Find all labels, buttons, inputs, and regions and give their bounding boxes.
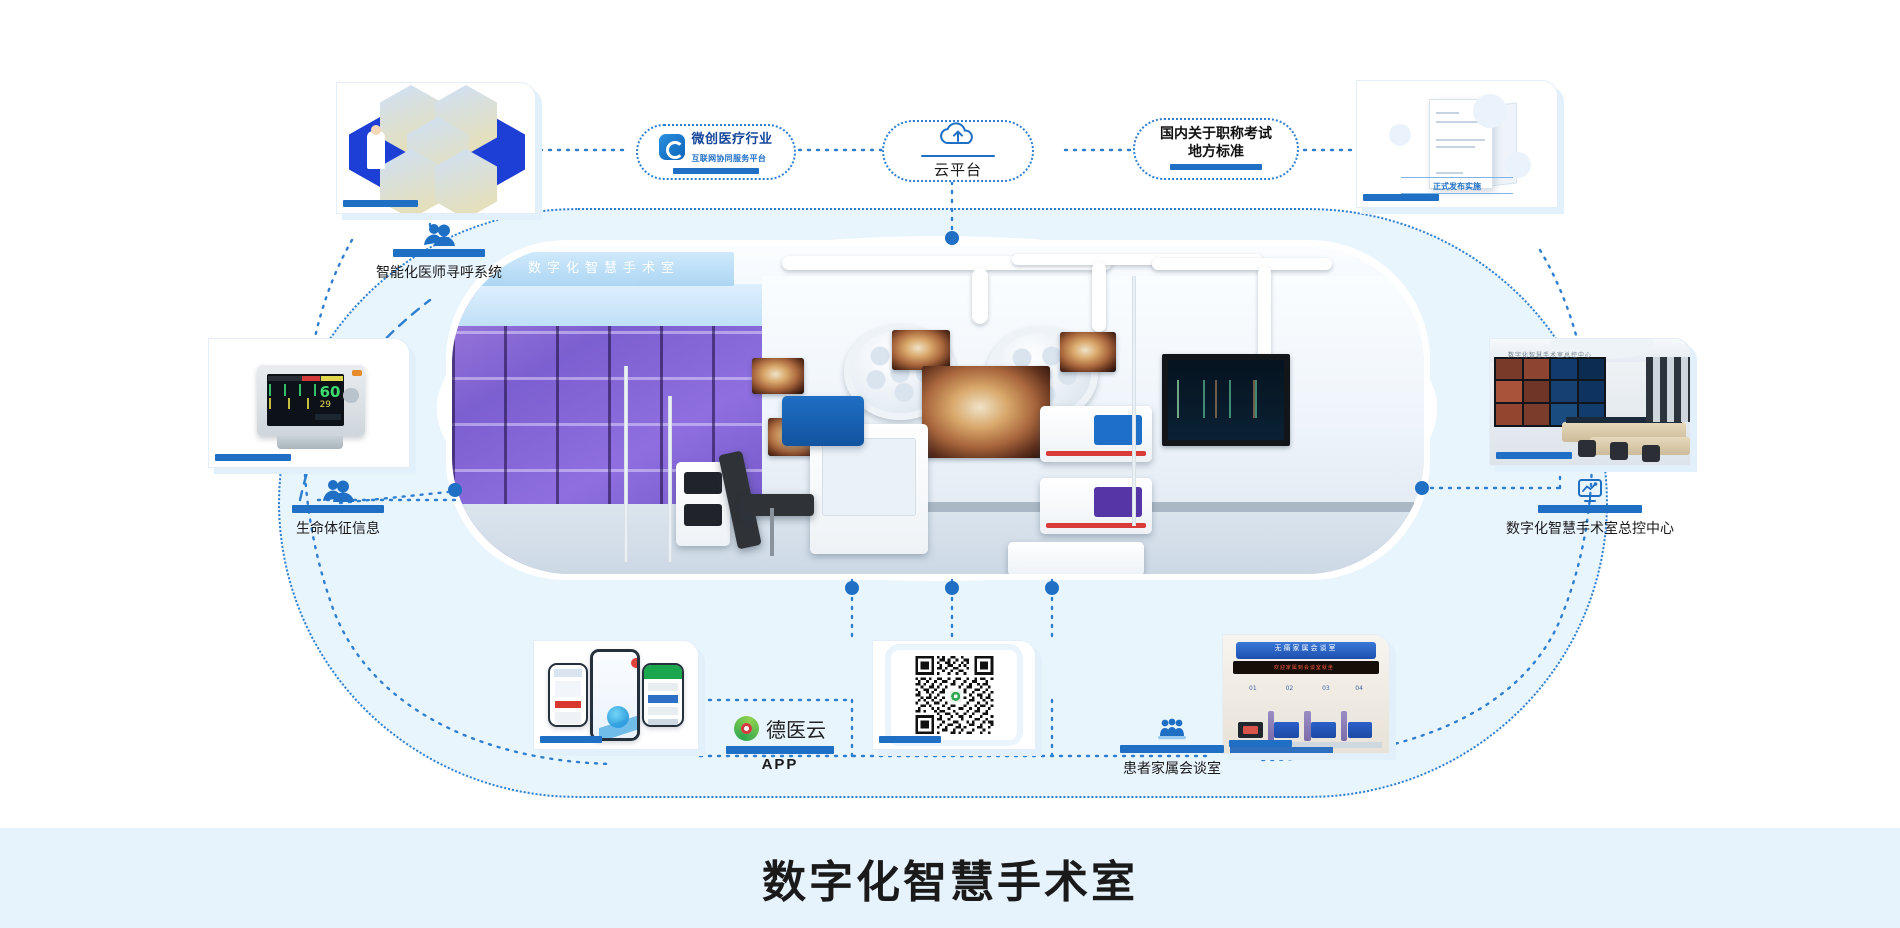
card-vitals-thumb: 60 29 [209,339,409,467]
platform-brand-lockup: 微创医疗行业 互联网协同服务平台 [659,128,772,166]
pill-platform[interactable]: 微创医疗行业 互联网协同服务平台 [636,124,796,180]
pill-standard-line2: 地方标准 [1188,144,1244,162]
card-app-underline [540,736,602,743]
app-name: 德医云 [766,714,826,743]
page-title: 数字化智慧手术室 [762,846,1138,910]
platform-brand-subtitle: 互联网协同服务平台 [691,154,766,163]
platform-brand-title: 微创医疗行业 [691,132,772,147]
family-counter-num-2: 02 [1283,685,1296,692]
card-paging[interactable] [336,82,536,214]
control-center-wall-text: 数字化智慧手术室总控中心 [1498,350,1602,359]
pill-cloud-label: 云平台 [934,159,982,180]
page-caption-bar: 数字化智慧手术室 [0,828,1900,928]
hero-operating-room: 数字化智慧手术室 [452,246,1424,574]
standard-ribbon-text: 正式发布实施 [1401,181,1513,192]
qr-code[interactable] [891,650,1017,741]
platform-logo-icon [659,134,685,160]
node-control-label: 数字化智慧手术室总控中心 [1490,518,1690,538]
infographic-root: 数字化智慧手术室 [0,0,1900,928]
node-vitals-label: 生命体征信息 [258,518,418,538]
standard-ribbon: 正式发布实施 [1401,177,1513,195]
card-qr[interactable] [872,640,1036,750]
node-vitals[interactable]: 生命体征信息 [258,478,418,538]
app-logo[interactable]: 德医云 APP [700,714,860,773]
card-standard-thumb: 正式发布实施 [1357,81,1557,207]
family-room-sign: 无痛家属会谈室 [1236,642,1375,659]
platform-underline [673,168,759,174]
app-sub-label: APP [700,756,860,773]
card-paging-thumb [337,83,535,213]
card-control[interactable]: 数字化智慧手术室总控中心 [1489,338,1691,466]
family-counter-num-1: 01 [1246,685,1259,692]
node-paging[interactable]: 智能化医师寻呼系统 [354,222,524,282]
app-underline [726,746,834,754]
card-app[interactable] [533,640,699,750]
monitor-chart-icon [1573,478,1607,504]
card-paging-underline [343,200,418,207]
two-people-icon [321,478,355,504]
card-control-underline [1496,452,1572,459]
pill-standard[interactable]: 国内关于职称考试 地方标准 [1133,118,1299,180]
card-standard[interactable]: 正式发布实施 [1356,80,1558,208]
family-counter-num-3: 03 [1319,685,1332,692]
cloud-upload-icon [935,122,981,153]
node-control-underline [1538,505,1642,513]
card-control-thumb: 数字化智慧手术室总控中心 [1490,339,1690,465]
card-qr-thumb [873,641,1035,749]
card-app-thumb [534,641,698,749]
node-paging-label: 智能化医师寻呼系统 [354,262,524,282]
node-family[interactable]: 患者家属会谈室 [1092,718,1252,778]
pill-cloud[interactable]: 云平台 [882,120,1034,182]
card-vitals-underline [215,454,291,461]
cloud-underline [921,155,995,157]
family-counter-num-4: 04 [1352,685,1365,692]
node-family-underline [1120,745,1224,753]
card-vitals[interactable]: 60 29 [208,338,410,468]
group-people-icon [1155,718,1189,744]
node-family-label: 患者家属会谈室 [1092,758,1252,778]
family-room-led-text: 欢迎家属到会谈室就坐 [1274,664,1334,671]
node-control[interactable]: 数字化智慧手术室总控中心 [1490,478,1690,538]
family-room-led: 欢迎家属到会谈室就坐 [1233,661,1379,674]
node-vitals-underline [292,505,384,513]
card-qr-underline [879,736,941,743]
node-paging-underline [393,249,485,257]
standard-underline [1170,164,1262,170]
pill-standard-line1: 国内关于职称考试 [1160,126,1272,144]
two-people-icon [422,222,456,248]
card-standard-underline [1363,194,1439,201]
deyiyun-logo-icon [734,716,759,741]
